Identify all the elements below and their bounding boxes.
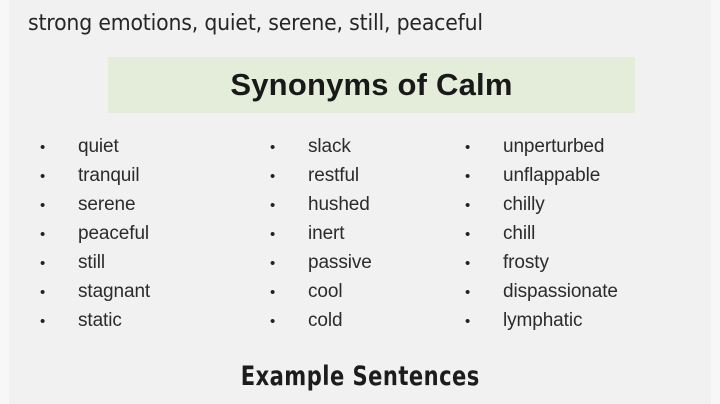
list-item: • serene	[40, 190, 255, 219]
bullet-icon: •	[40, 162, 78, 191]
synonym-label: quiet	[78, 132, 119, 161]
slide-canvas: strong emotions, quiet, serene, still, p…	[0, 0, 720, 404]
list-item: • passive	[270, 248, 450, 277]
bullet-icon: •	[40, 220, 78, 249]
synonym-label: hushed	[308, 190, 370, 219]
synonym-label: still	[78, 248, 105, 277]
synonym-label: serene	[78, 190, 136, 219]
bullet-icon: •	[465, 278, 503, 307]
bullet-icon: •	[40, 307, 78, 336]
synonym-column-2: • slack • restful • hushed • inert • pas…	[270, 132, 450, 335]
synonym-label: lymphatic	[503, 306, 582, 335]
synonym-label: tranquil	[78, 161, 140, 190]
list-item: • tranquil	[40, 161, 255, 190]
bullet-icon: •	[40, 249, 78, 278]
list-item: • peaceful	[40, 219, 255, 248]
bullet-icon: •	[465, 133, 503, 162]
bullet-icon: •	[270, 191, 308, 220]
synonym-label: frosty	[503, 248, 549, 277]
synonym-label: unflappable	[503, 161, 600, 190]
example-sentences-heading: Example Sentences	[240, 360, 479, 394]
bullet-icon: •	[465, 162, 503, 191]
list-item: • hushed	[270, 190, 450, 219]
synonym-label: static	[78, 306, 122, 335]
list-item: • restful	[270, 161, 450, 190]
list-item: • cool	[270, 277, 450, 306]
list-item: • frosty	[465, 248, 695, 277]
synonym-label: passive	[308, 248, 372, 277]
bullet-icon: •	[270, 220, 308, 249]
bullet-icon: •	[270, 307, 308, 336]
list-item: • still	[40, 248, 255, 277]
synonym-label: cold	[308, 306, 342, 335]
synonyms-columns: • quiet • tranquil • serene • peaceful •…	[0, 132, 720, 344]
footer-section: Example Sentences	[0, 360, 720, 394]
list-item: • inert	[270, 219, 450, 248]
list-item: • stagnant	[40, 277, 255, 306]
synonym-label: dispassionate	[503, 277, 618, 306]
bullet-icon: •	[465, 220, 503, 249]
bullet-icon: •	[270, 162, 308, 191]
list-item: • chilly	[465, 190, 695, 219]
synonym-column-3: • unperturbed • unflappable • chilly • c…	[465, 132, 695, 335]
list-item: • quiet	[40, 132, 255, 161]
synonym-label: slack	[308, 132, 351, 161]
synonym-label: cool	[308, 277, 342, 306]
bullet-icon: •	[40, 191, 78, 220]
bullet-icon: •	[40, 278, 78, 307]
intro-phrase-text: strong emotions, quiet, serene, still, p…	[28, 9, 483, 39]
list-item: • cold	[270, 306, 450, 335]
list-item: • static	[40, 306, 255, 335]
bullet-icon: •	[40, 133, 78, 162]
synonym-label: chill	[503, 219, 535, 248]
bullet-icon: •	[270, 249, 308, 278]
synonym-label: restful	[308, 161, 359, 190]
synonym-column-1: • quiet • tranquil • serene • peaceful •…	[40, 132, 255, 335]
list-item: • chill	[465, 219, 695, 248]
synonym-label: chilly	[503, 190, 545, 219]
list-item: • dispassionate	[465, 277, 695, 306]
bullet-icon: •	[465, 249, 503, 278]
bullet-icon: •	[465, 307, 503, 336]
page-title: Synonyms of Calm	[230, 68, 512, 102]
synonym-label: inert	[308, 219, 344, 248]
bullet-icon: •	[270, 133, 308, 162]
list-item: • lymphatic	[465, 306, 695, 335]
list-item: • unflappable	[465, 161, 695, 190]
list-item: • unperturbed	[465, 132, 695, 161]
title-banner: Synonyms of Calm	[108, 57, 635, 113]
bullet-icon: •	[270, 278, 308, 307]
bullet-icon: •	[465, 191, 503, 220]
synonym-label: stagnant	[78, 277, 150, 306]
synonym-label: unperturbed	[503, 132, 604, 161]
list-item: • slack	[270, 132, 450, 161]
synonym-label: peaceful	[78, 219, 149, 248]
